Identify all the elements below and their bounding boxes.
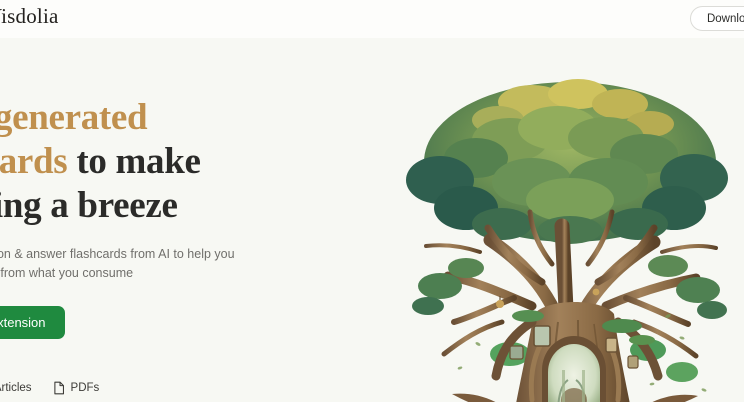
treehouse-illustration bbox=[382, 54, 744, 402]
headline-text-3: studying a breeze bbox=[0, 185, 178, 226]
site-header: Visdolia Download E bbox=[0, 0, 744, 38]
cta-label: Download Extension bbox=[0, 315, 46, 330]
download-extension-button[interactable]: Download Extension bbox=[0, 306, 65, 339]
headline-accent-1: Auto generated bbox=[0, 97, 147, 138]
header-download-button[interactable]: Download E bbox=[690, 6, 744, 31]
tree-canopy bbox=[406, 79, 728, 244]
subtitle-line-2: remember more from what you consume bbox=[0, 264, 306, 283]
landing-page: Visdolia Download E Auto generated flash… bbox=[0, 0, 744, 402]
hero-headline: Auto generated flashcards to make studyi… bbox=[0, 96, 328, 228]
works-item-pdfs[interactable]: PDFs bbox=[53, 381, 100, 395]
hero-subtitle: Generate question & answer flashcards fr… bbox=[0, 245, 306, 283]
works-with-row: YouTube Articles bbox=[0, 380, 328, 395]
works-label-articles: Articles bbox=[0, 382, 32, 394]
headline-line-3: studying a breeze bbox=[0, 184, 328, 228]
headline-line-1: Auto generated bbox=[0, 96, 328, 140]
works-item-articles[interactable]: Articles bbox=[0, 381, 32, 394]
hero-section: Auto generated flashcards to make studyi… bbox=[0, 96, 328, 395]
works-with-label: WORKS WITH bbox=[0, 363, 328, 373]
headline-line-2: flashcards to make bbox=[0, 140, 328, 184]
brand-logo[interactable]: Visdolia bbox=[0, 4, 59, 29]
headline-rest-2: to make bbox=[67, 141, 200, 182]
header-download-label: Download E bbox=[707, 13, 744, 25]
works-label-pdfs: PDFs bbox=[71, 382, 100, 394]
subtitle-line-1: Generate question & answer flashcards fr… bbox=[0, 245, 306, 264]
document-icon bbox=[53, 381, 65, 395]
treehouse-door bbox=[542, 336, 606, 402]
headline-accent-2: flashcards bbox=[0, 141, 67, 182]
